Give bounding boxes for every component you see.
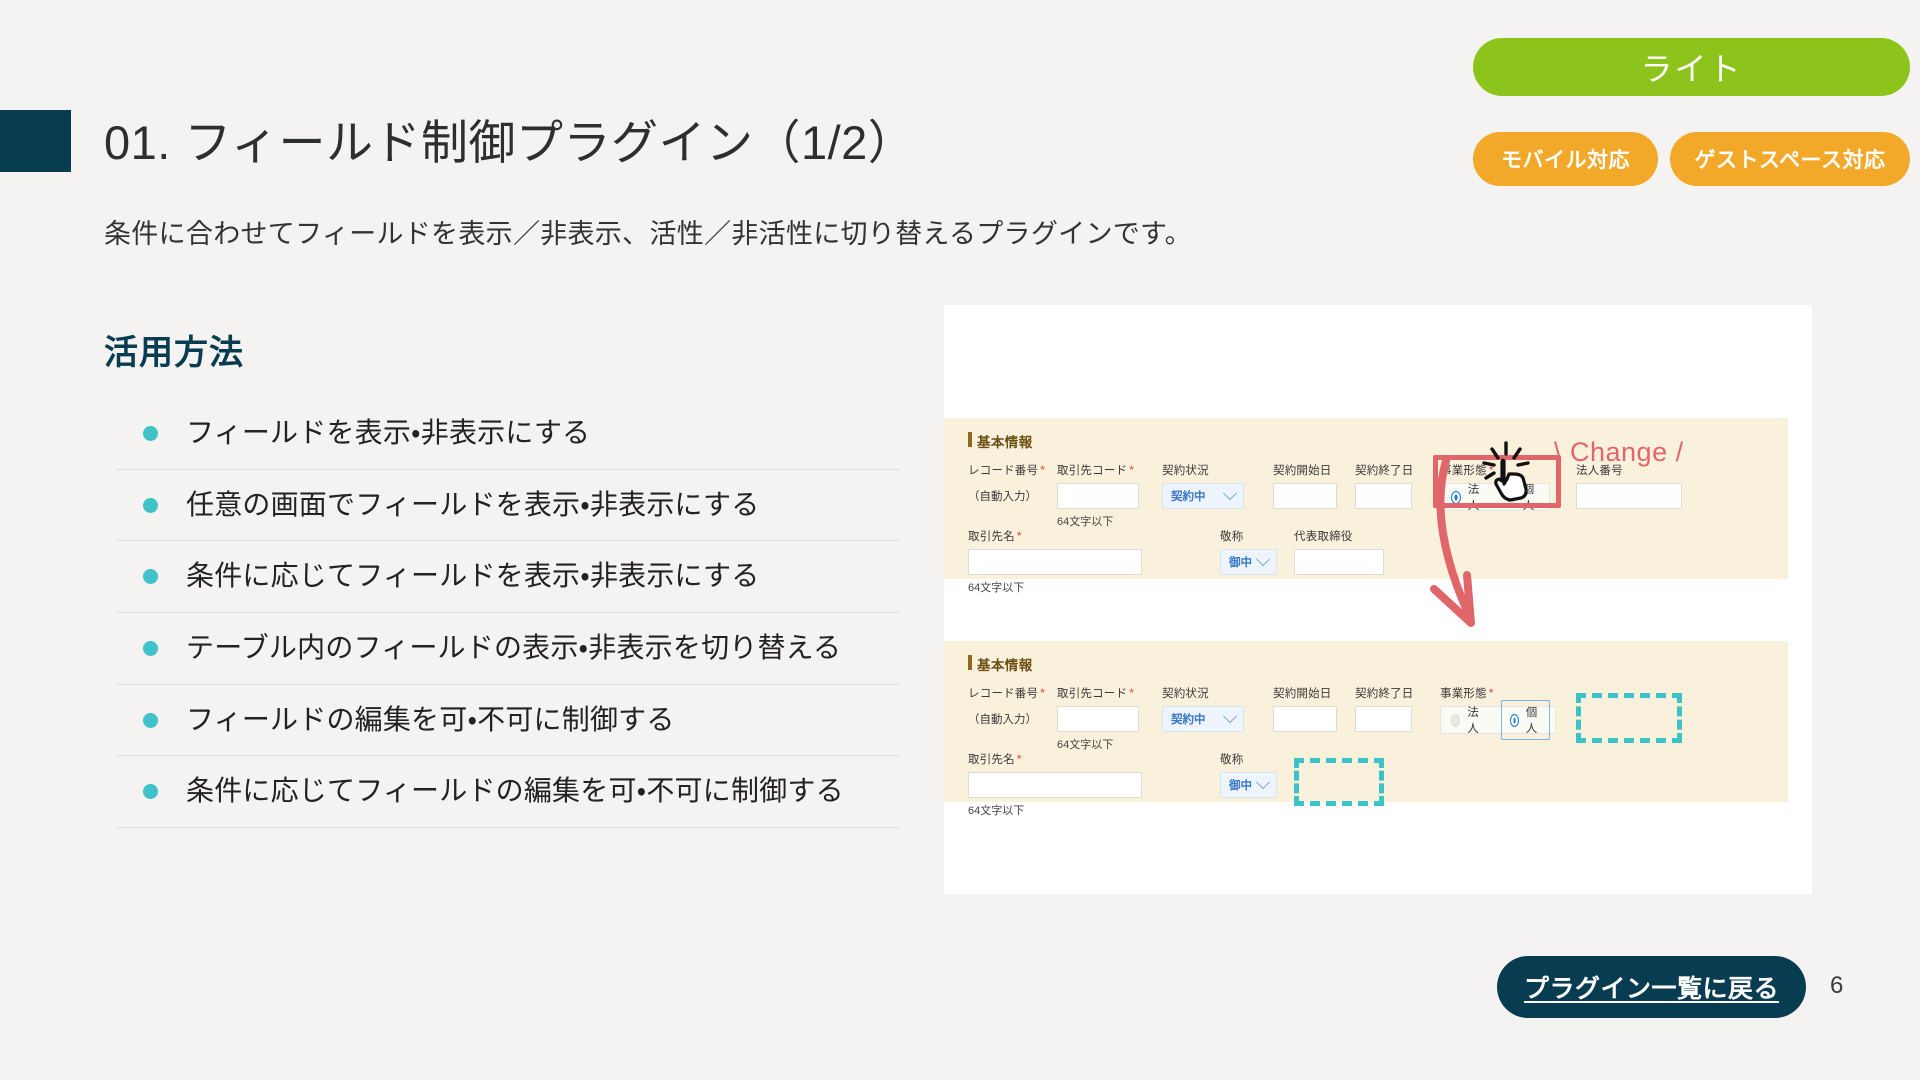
bullet-dot-icon	[143, 641, 158, 656]
list-item-label: 条件に応じてフィールドを表示・非表示にする	[186, 557, 759, 596]
field-label: 取引先名	[968, 531, 1015, 543]
contract-start-input[interactable]	[1273, 706, 1337, 732]
bullet-dot-icon	[143, 426, 158, 441]
field-partner-name: 取引先名* 64文字以下	[968, 528, 1142, 595]
field-partner-code: 取引先コード* 64文字以下	[1057, 685, 1139, 752]
field-hint: 64文字以下	[1057, 513, 1139, 529]
field-contract-end: 契約終了日	[1355, 685, 1412, 732]
form-section-title: 基本情報	[968, 654, 1033, 674]
bullet-dot-icon	[143, 713, 158, 728]
field-value: （自動入力）	[968, 711, 1045, 727]
required-marker: *	[1129, 686, 1134, 700]
bullet-dot-icon	[143, 784, 158, 799]
required-marker: *	[1129, 463, 1134, 477]
radio-label: 法人	[1468, 481, 1484, 513]
usage-list: フィールドを表示・非表示にする 任意の画面でフィールドを表示・非表示にする 条件…	[116, 398, 900, 828]
radio-option-individual[interactable]: 個人	[1501, 700, 1551, 740]
page-title: 01. フィールド制御プラグイン（1/2）	[104, 104, 915, 173]
radio-option-corporate[interactable]: 法人	[1451, 704, 1483, 736]
field-label: レコード番号	[968, 688, 1038, 700]
field-contract-status: 契約状況 契約中	[1162, 685, 1244, 732]
partner-code-input[interactable]	[1057, 706, 1139, 732]
honorific-select[interactable]: 御中	[1220, 549, 1277, 575]
required-marker: *	[1040, 463, 1045, 477]
field-business-type: 事業形態* 法人 個人	[1440, 462, 1550, 511]
tag-badge-mobile: モバイル対応	[1473, 132, 1658, 186]
contract-start-input[interactable]	[1273, 483, 1337, 509]
chevron-down-icon	[1256, 775, 1270, 789]
radio-label: 個人	[1523, 481, 1539, 513]
field-honorific: 敬称 御中	[1220, 751, 1277, 798]
required-marker: *	[1040, 686, 1045, 700]
field-label: 事業形態	[1440, 688, 1487, 700]
radio-selected-icon	[1510, 714, 1519, 727]
field-label: 取引先コード	[1057, 465, 1127, 477]
field-record-number: レコード番号* （自動入力）	[968, 462, 1045, 504]
field-label: 契約状況	[1162, 462, 1244, 478]
back-to-plugin-list-button[interactable]: プラグイン一覧に戻る	[1497, 956, 1806, 1018]
field-contract-start: 契約開始日	[1273, 462, 1337, 509]
representative-input[interactable]	[1294, 549, 1384, 575]
usage-heading: 活用方法	[104, 325, 244, 374]
field-contract-status: 契約状況 契約中	[1162, 462, 1244, 509]
field-contract-start: 契約開始日	[1273, 685, 1337, 732]
radio-selected-icon	[1451, 491, 1461, 504]
field-label: レコード番号	[968, 465, 1038, 477]
required-marker: *	[1489, 463, 1494, 477]
select-value: 契約中	[1171, 488, 1206, 504]
bullet-dot-icon	[143, 569, 158, 584]
form-after: 基本情報 レコード番号* （自動入力） 取引先コード* 64文字以下 契約状況 …	[944, 641, 1788, 802]
contract-end-input[interactable]	[1355, 706, 1412, 732]
list-item-label: テーブル内のフィールドの表示・非表示を切り替える	[186, 629, 841, 668]
field-label: 契約終了日	[1355, 462, 1412, 478]
field-label: 契約開始日	[1273, 685, 1337, 701]
list-item: テーブル内のフィールドの表示・非表示を切り替える	[116, 613, 900, 685]
required-marker: *	[1489, 686, 1494, 700]
list-item-label: 条件に応じてフィールドの編集を可・不可に制御する	[186, 772, 844, 811]
screenshot-panel: 基本情報 レコード番号* （自動入力） 取引先コード* 64文字以下 契約状況 …	[944, 305, 1812, 894]
honorific-select[interactable]: 御中	[1220, 772, 1277, 798]
chevron-down-icon	[1223, 486, 1237, 500]
list-item: 任意の画面でフィールドを表示・非表示にする	[116, 470, 900, 542]
radio-option-individual[interactable]: 個人	[1506, 481, 1539, 513]
field-representative: 代表取締役	[1294, 528, 1384, 575]
contract-status-select[interactable]: 契約中	[1162, 706, 1244, 732]
field-contract-end: 契約終了日	[1355, 462, 1412, 509]
select-value: 御中	[1229, 554, 1252, 570]
list-item: フィールドの編集を可・不可に制御する	[116, 685, 900, 757]
field-label: 代表取締役	[1294, 528, 1384, 544]
chevron-down-icon	[1256, 552, 1270, 566]
page-number: 6	[1830, 972, 1843, 1000]
contract-status-select[interactable]: 契約中	[1162, 483, 1244, 509]
select-value: 契約中	[1171, 711, 1206, 727]
business-type-radio-group[interactable]: 法人 個人	[1440, 483, 1550, 511]
form-section-title: 基本情報	[968, 431, 1033, 451]
field-label: 契約開始日	[1273, 462, 1337, 478]
back-button-label: プラグイン一覧に戻る	[1524, 969, 1779, 1005]
field-hint: 64文字以下	[968, 579, 1142, 595]
field-hint: 64文字以下	[968, 802, 1142, 818]
tag-badge-guest-space: ゲストスペース対応	[1670, 132, 1910, 186]
radio-unselected-icon	[1506, 491, 1516, 504]
radio-label: 個人	[1526, 704, 1541, 736]
partner-code-input[interactable]	[1057, 483, 1139, 509]
radio-unselected-icon	[1451, 714, 1460, 727]
list-item: 条件に応じてフィールドを表示・非表示にする	[116, 541, 900, 613]
list-item: フィールドを表示・非表示にする	[116, 398, 900, 470]
field-label: 契約終了日	[1355, 685, 1412, 701]
field-hint: 64文字以下	[1057, 736, 1139, 752]
corporate-number-input[interactable]	[1576, 483, 1682, 509]
partner-name-input[interactable]	[968, 772, 1142, 798]
partner-name-input[interactable]	[968, 549, 1142, 575]
business-type-radio-group[interactable]: 法人 個人	[1440, 706, 1556, 734]
change-annotation-label: \ Change /	[1554, 437, 1684, 468]
bullet-dot-icon	[143, 498, 158, 513]
contract-end-input[interactable]	[1355, 483, 1412, 509]
field-record-number: レコード番号* （自動入力）	[968, 685, 1045, 727]
required-marker: *	[1017, 752, 1022, 766]
plan-badge-light: ライト	[1473, 38, 1910, 96]
list-item-label: 任意の画面でフィールドを表示・非表示にする	[186, 486, 759, 525]
field-corporate-number: 法人番号	[1576, 462, 1682, 509]
field-business-type: 事業形態* 法人 個人	[1440, 685, 1556, 734]
field-honorific: 敬称 御中	[1220, 528, 1277, 575]
field-label: 敬称	[1220, 751, 1277, 767]
field-value: （自動入力）	[968, 488, 1045, 504]
radio-label: 法人	[1467, 704, 1482, 736]
list-item-label: フィールドの編集を可・不可に制御する	[186, 701, 675, 740]
required-marker: *	[1017, 529, 1022, 543]
list-item-label: フィールドを表示・非表示にする	[186, 414, 590, 453]
field-partner-name: 取引先名* 64文字以下	[968, 751, 1142, 818]
field-label: 敬称	[1220, 528, 1277, 544]
list-item: 条件に応じてフィールドの編集を可・不可に制御する	[116, 756, 900, 828]
select-value: 御中	[1229, 777, 1252, 793]
radio-option-corporate[interactable]: 法人	[1451, 481, 1484, 513]
field-label: 契約状況	[1162, 685, 1244, 701]
field-label: 取引先名	[968, 754, 1015, 766]
page-subtitle: 条件に合わせてフィールドを表示／非表示、活性／非活性に切り替えるプラグインです。	[104, 212, 1192, 251]
field-partner-code: 取引先コード* 64文字以下	[1057, 462, 1139, 529]
field-label: 取引先コード	[1057, 688, 1127, 700]
title-accent-bar	[0, 110, 71, 172]
chevron-down-icon	[1223, 709, 1237, 723]
field-label: 事業形態	[1440, 465, 1487, 477]
